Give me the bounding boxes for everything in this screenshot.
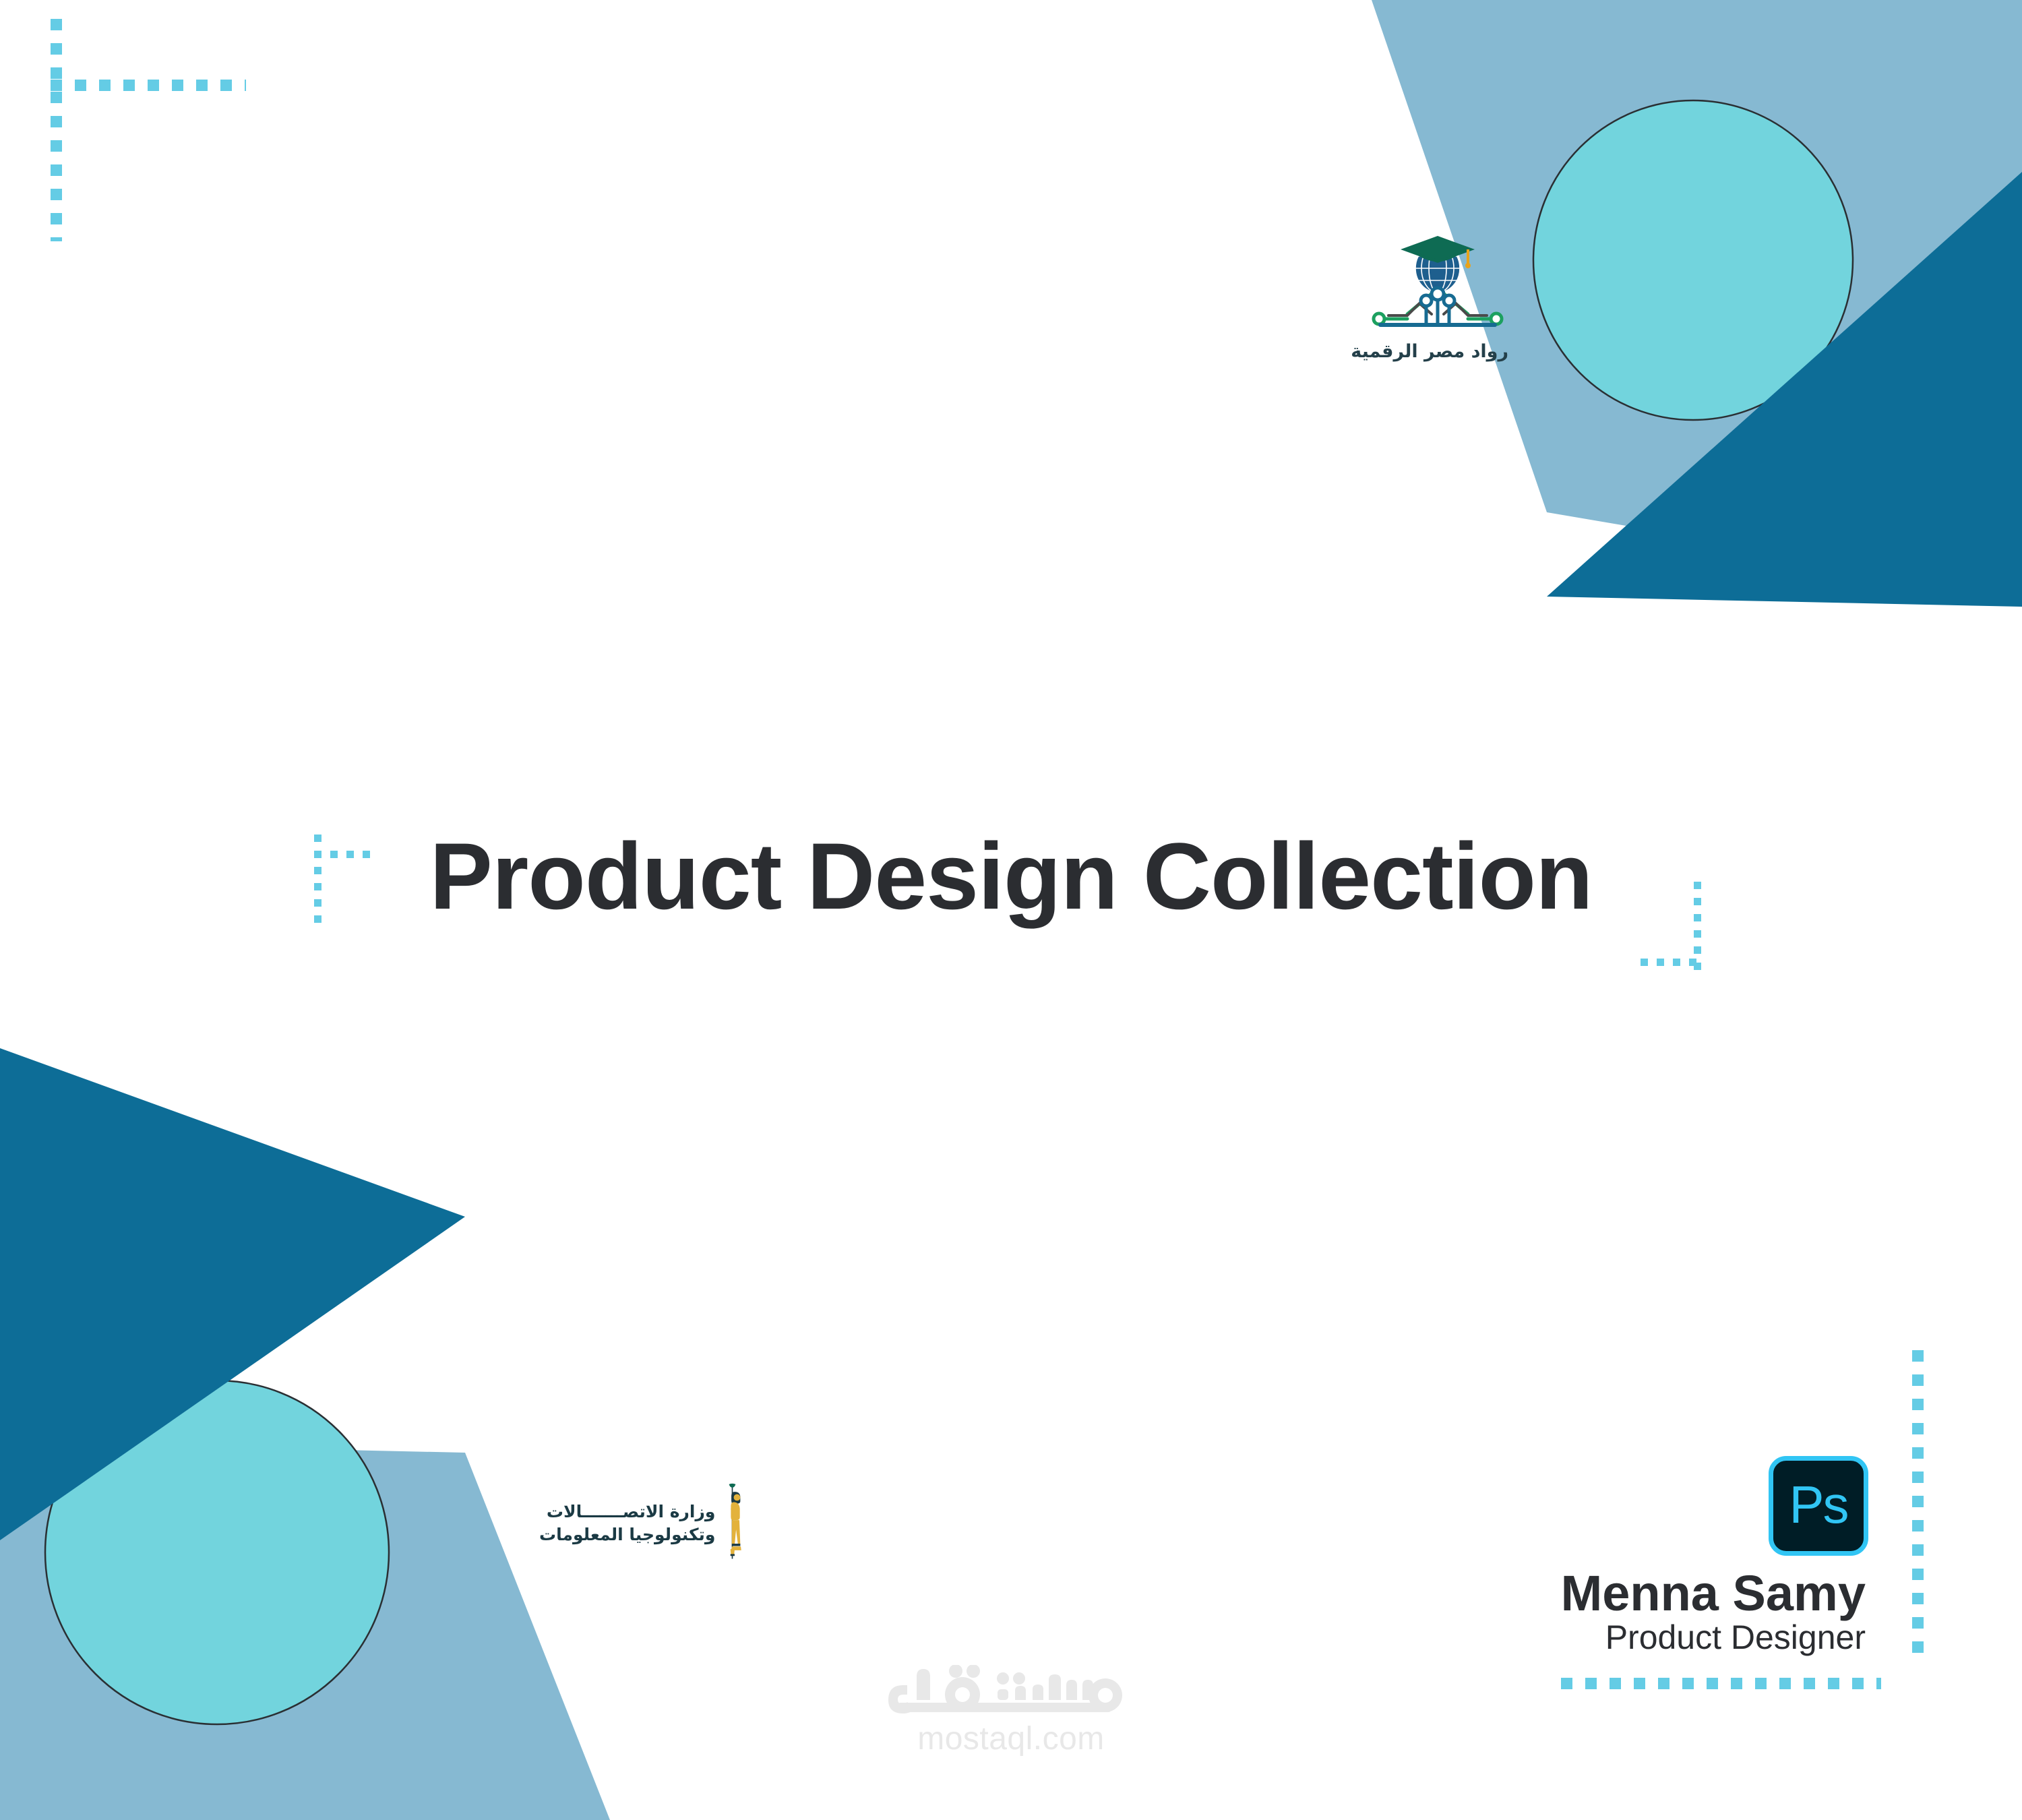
pharaoh-figure-icon	[721, 1466, 748, 1581]
mostaql-url: mostaql.com	[883, 1720, 1139, 1757]
photoshop-icon: Ps	[1769, 1456, 1868, 1556]
depi-logo-caption: رواد مصر الرقمية	[1367, 341, 1508, 362]
bottom-right-horizontal-dash	[1561, 1678, 1881, 1689]
mcit-logo-line-1: وزارة الاتصـــــــالات	[539, 1500, 715, 1523]
mcit-logo-line-2: وتكنولوجيا المعلومات	[539, 1523, 715, 1546]
mcit-logo-text: وزارة الاتصـــــــالات وتكنولوجيا المعلو…	[539, 1500, 715, 1546]
cover-page: رواد مصر الرقمية وزارة الاتصـــــــالات …	[0, 0, 2022, 1820]
mcit-logo: وزارة الاتصـــــــالات وتكنولوجيا المعلو…	[539, 1466, 748, 1581]
title-bottom-right-horizontal-dash	[1641, 959, 1701, 966]
top-left-horizontal-dash	[51, 80, 246, 91]
page-title-text: Product Design Collection	[0, 829, 2022, 923]
signature-block: Ps Menna Samy Product Designer	[1550, 1456, 1874, 1656]
bottom-right-vertical-dash	[1912, 1350, 1924, 1657]
designer-role: Product Designer	[1550, 1620, 1866, 1656]
mostaql-logo-icon	[883, 1665, 1139, 1718]
photoshop-icon-letters: Ps	[1789, 1478, 1847, 1531]
top-left-vertical-dash	[51, 19, 62, 241]
page-title: Product Design Collection	[0, 829, 2022, 923]
mostaql-watermark: mostaql.com	[883, 1665, 1139, 1757]
depi-logo-mark	[1367, 229, 1508, 337]
designer-name: Menna Samy	[1550, 1568, 1866, 1618]
depi-logo: رواد مصر الرقمية	[1367, 229, 1508, 362]
circuit-node-icon	[1374, 288, 1502, 325]
